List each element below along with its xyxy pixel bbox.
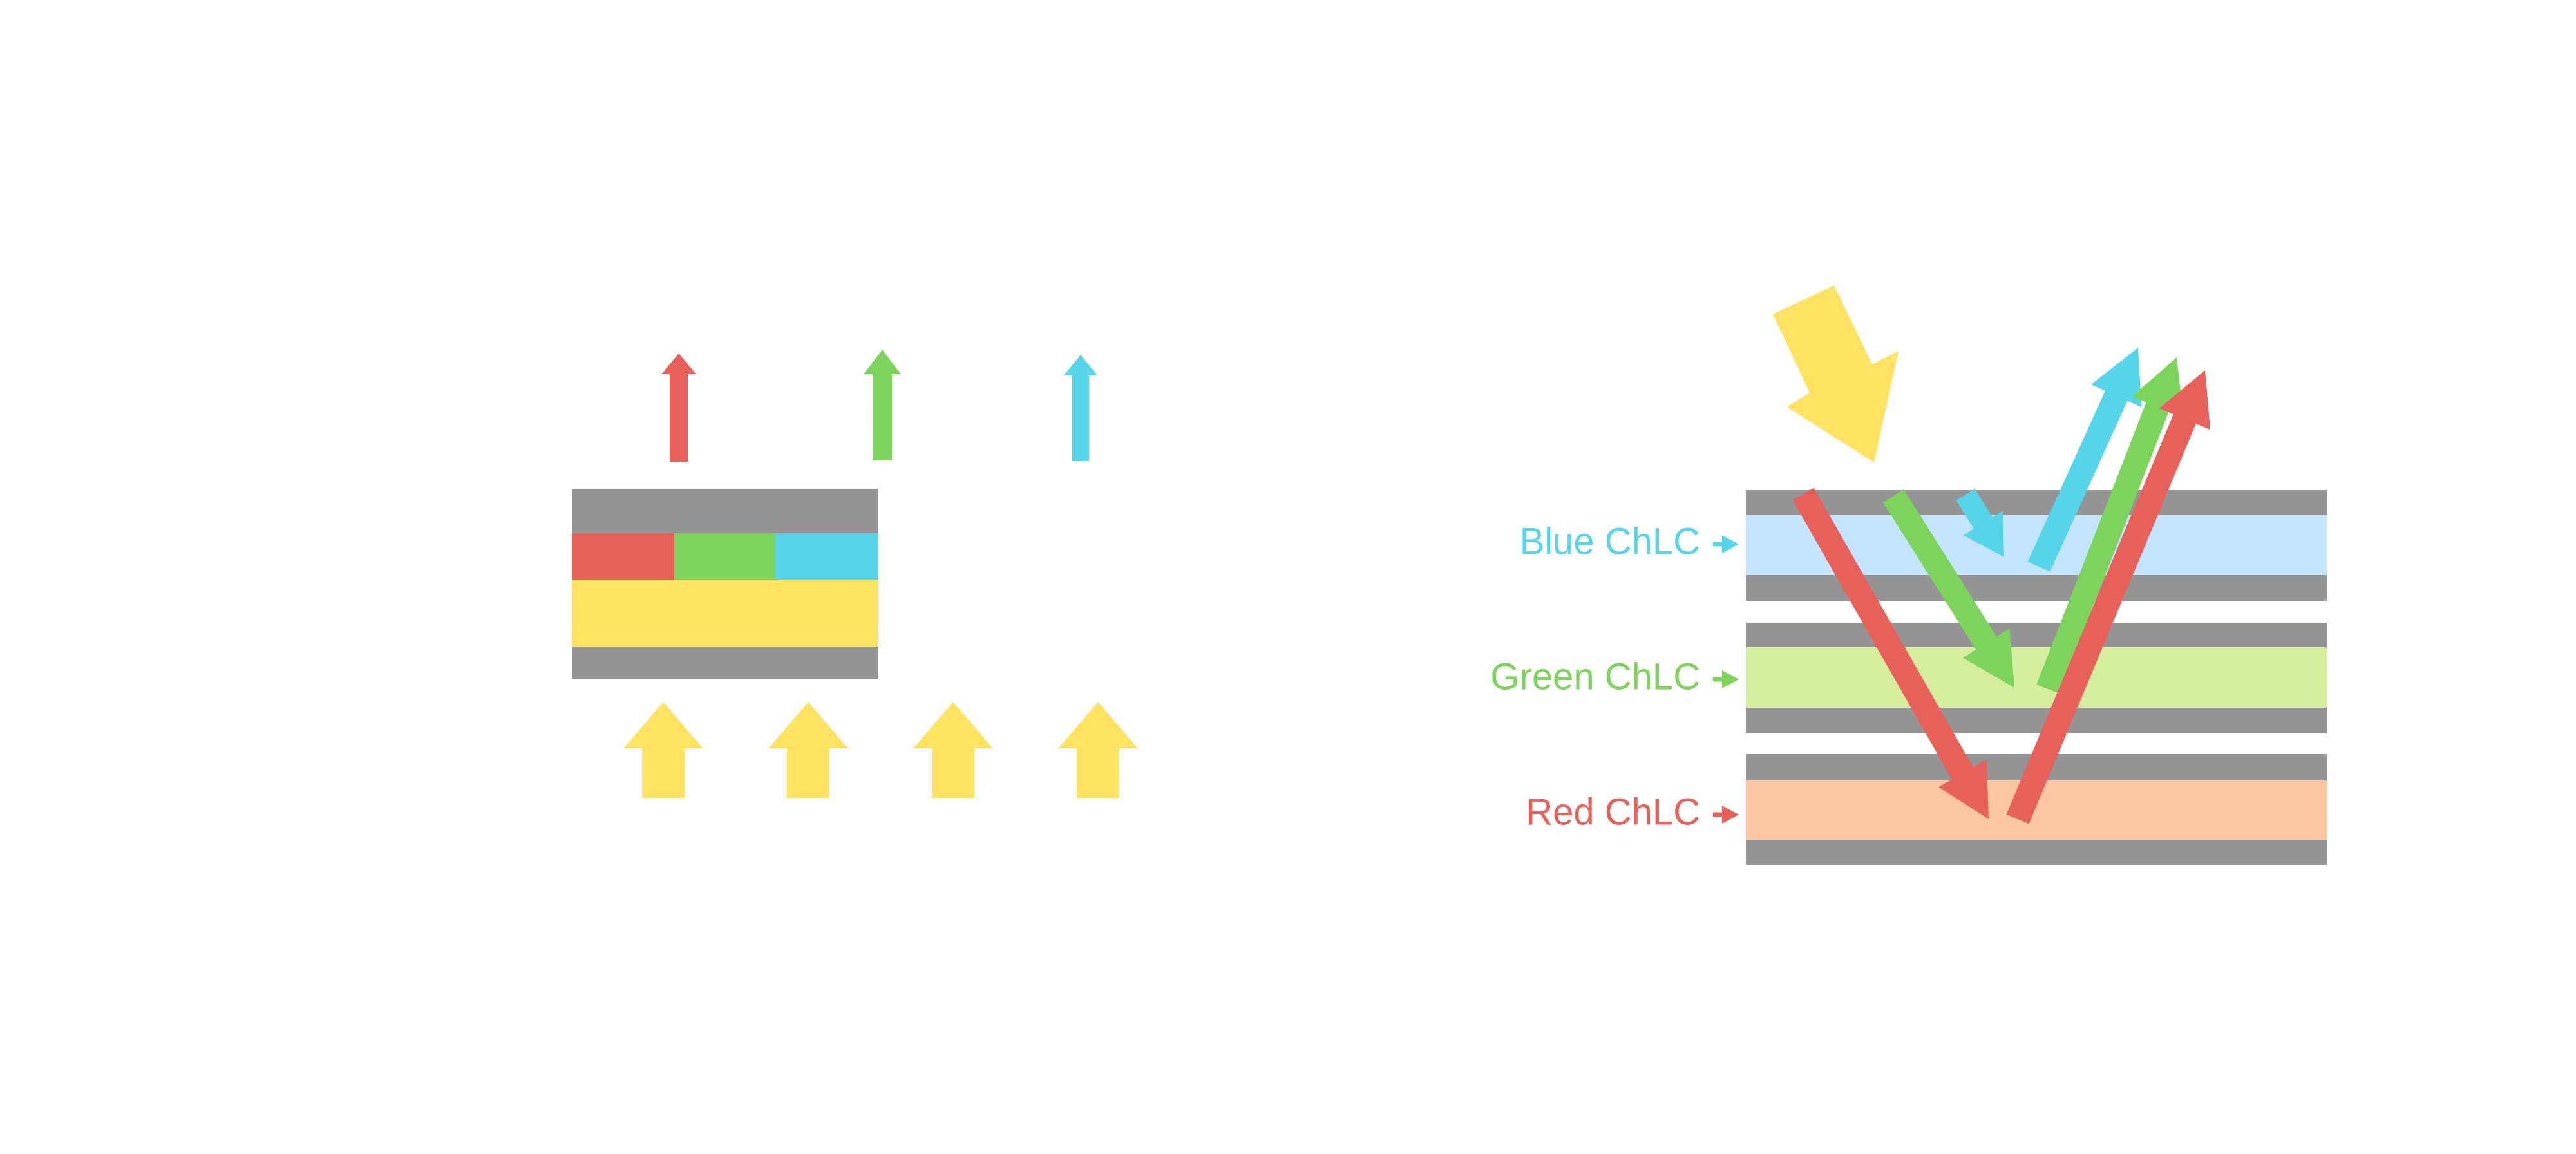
green-chlc-layer: [1746, 647, 2327, 708]
blue-top-electrode: [1746, 490, 2327, 515]
backlight-layer: [572, 580, 878, 647]
gap-1: [1746, 601, 2327, 623]
green-bottom-electrode: [1746, 708, 2327, 733]
green-subpixel: [674, 533, 775, 580]
label-red-chlc-text: Red ChLC: [1526, 791, 1700, 833]
label-blue-chlc-text: Blue ChLC: [1520, 520, 1700, 562]
label-green-chlc-text: Green ChLC: [1490, 656, 1700, 697]
red-bottom-electrode: [1746, 840, 2327, 865]
blue-bottom-electrode: [1746, 575, 2327, 601]
diagram-canvas: Blue ChLCGreen ChLCRed ChLC: [0, 0, 2576, 1154]
emission-stack-layers: [572, 489, 878, 679]
rgb-color-filter: [572, 533, 878, 580]
red-subpixel: [572, 533, 674, 580]
bottom-electrode: [572, 647, 878, 679]
green-top-electrode: [1746, 623, 2327, 647]
top-electrode: [572, 489, 878, 533]
blue-subpixel: [775, 533, 878, 580]
chlc-diagram-svg: Blue ChLCGreen ChLCRed ChLC: [0, 0, 2576, 1154]
